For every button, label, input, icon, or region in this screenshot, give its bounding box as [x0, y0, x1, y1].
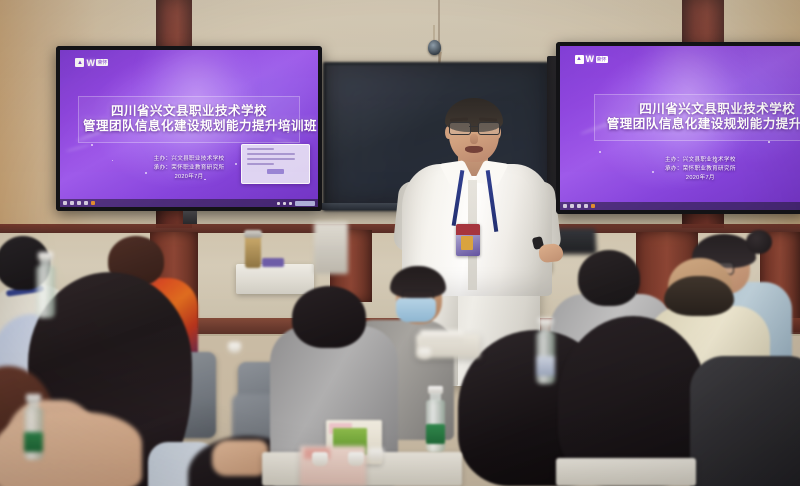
attendee-hair-bun [746, 230, 772, 254]
paper-cup [348, 452, 364, 466]
slide-particle [599, 151, 601, 153]
os-taskbar[interactable] [560, 202, 800, 210]
right-slide: ▲ W 荣怀 四川省兴文县职业技术学校 管理团队信息化建设规划能力提升培训 主办… [560, 46, 800, 210]
front-table-right [556, 458, 696, 486]
slide-title-box: 四川省兴文县职业技术学校 管理团队信息化建设规划能力提升培训班 [78, 96, 300, 144]
tray-icon[interactable] [277, 202, 280, 205]
taskbar-browser-icon[interactable] [84, 201, 88, 205]
presenter-glasses [448, 122, 500, 134]
taskbar-start-icon[interactable] [63, 201, 67, 205]
paper-cup [312, 452, 328, 466]
logo-mark-icon: ▲ [75, 58, 84, 67]
presenter-mouth [465, 146, 483, 153]
slide-particle [768, 141, 770, 143]
slide-title-line-2: 管理团队信息化建设规划能力提升培训 [599, 117, 800, 132]
os-taskbar[interactable] [60, 199, 318, 207]
dialog-ok-button[interactable] [267, 169, 284, 174]
left-display[interactable]: ▲ W 荣怀 四川省兴文县职业技术学校 管理团队信息化建设规划能力提升培训班 主… [56, 46, 322, 211]
slide-particle [91, 144, 93, 146]
glasses-lens-left [449, 122, 471, 135]
logo-letter: W [586, 54, 594, 64]
slide-credit-line-2: 承办：荣怀职业教育研究所 [584, 165, 800, 174]
thermos-flask [245, 236, 261, 268]
attendee-hand [212, 440, 268, 476]
equipment-cabinet [314, 222, 348, 274]
slide-title-box: 四川省兴文县职业技术学校 管理团队信息化建设规划能力提升培训 [594, 94, 800, 142]
thermos-cap [244, 230, 262, 238]
bottle-body [36, 266, 55, 318]
slide-dialog-popup[interactable] [241, 144, 310, 184]
slide-credit-line-3: 2020年7月 [584, 174, 800, 183]
photo-scene: ▲ W 荣怀 四川省兴文县职业技术学校 管理团队信息化建设规划能力提升培训班 主… [0, 0, 800, 486]
slide-title-line-2: 管理团队信息化建设规划能力提升培训班 [83, 119, 295, 134]
water-bottle [24, 394, 46, 466]
badge-photo [461, 236, 473, 249]
slide-title-line-1: 四川省兴文县职业技术学校 [83, 104, 295, 119]
papers-on-table [420, 330, 464, 342]
bottle-label [536, 356, 555, 376]
right-display[interactable]: ▲ W 荣怀 四川省兴文县职业技术学校 管理团队信息化建设规划能力提升培训 主办… [556, 42, 800, 214]
taskbar-start-icon[interactable] [563, 204, 567, 208]
logo-mark-icon: ▲ [575, 55, 584, 64]
slide-logo: ▲ W 荣怀 [75, 58, 108, 68]
left-display-stand [183, 211, 197, 224]
taskbar-search-icon[interactable] [70, 201, 74, 205]
paper-cup [418, 348, 431, 359]
presenter-nose [470, 134, 478, 144]
attendee-hair [292, 286, 366, 348]
dialog-text-line [247, 163, 274, 165]
side-table [236, 264, 314, 294]
tray-icon[interactable] [283, 202, 286, 205]
paper-cup [368, 448, 384, 462]
presenter-id-badge [456, 224, 480, 256]
attendee-arm [0, 412, 142, 486]
taskbar-search-icon[interactable] [570, 204, 574, 208]
taskbar-clock[interactable] [295, 201, 315, 206]
attendee-hair [578, 250, 640, 306]
tray-icon[interactable] [289, 202, 292, 205]
glasses-lens-right [478, 122, 500, 135]
logo-letter: W [86, 58, 94, 68]
bottle-label [426, 424, 445, 444]
slide-title-line-1: 四川省兴文县职业技术学校 [599, 102, 800, 117]
taskbar-explorer-icon[interactable] [77, 201, 81, 205]
attendee-hair [664, 276, 734, 316]
logo-wordmark: 荣怀 [96, 59, 108, 66]
taskbar-browser-icon[interactable] [584, 204, 588, 208]
logo-wordmark: 荣怀 [596, 56, 608, 63]
badge-header-band [456, 224, 480, 235]
paper-cup [228, 342, 241, 353]
bottle-label [24, 432, 43, 452]
water-bottle [536, 318, 558, 384]
taskbar-app-icon[interactable] [91, 201, 95, 205]
slide-credit-line-1: 主办：兴文县职业技术学校 [584, 156, 800, 165]
dialog-text-line [247, 158, 295, 160]
water-bottle [426, 386, 448, 458]
taskbar-explorer-icon[interactable] [577, 204, 581, 208]
slide-streak [65, 144, 90, 153]
slide-credits: 主办：兴文县职业技术学校 承办：荣怀职业教育研究所 2020年7月 [584, 156, 800, 183]
left-slide: ▲ W 荣怀 四川省兴文县职业技术学校 管理团队信息化建设规划能力提升培训班 主… [60, 50, 318, 207]
taskbar-app-icon[interactable] [591, 204, 595, 208]
item-on-side-table [262, 258, 284, 267]
slide-logo: ▲ W 荣怀 [575, 54, 608, 64]
glasses-bridge [469, 126, 478, 127]
attendee-clothing [690, 356, 800, 486]
attendee-face-mask [396, 298, 436, 322]
water-bottle [36, 252, 56, 314]
dialog-text-line [247, 153, 295, 155]
dialog-text-line [247, 148, 274, 150]
